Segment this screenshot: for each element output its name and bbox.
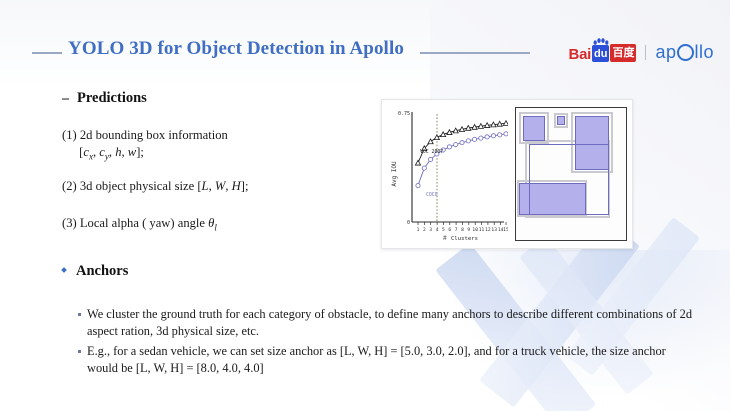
anchor-box-small-square [523,116,545,141]
chart-x-axis-label: ＃ Clusters [442,235,478,242]
svg-text:6: 6 [448,227,451,233]
anchor-box-tiny-square [557,116,565,125]
predictions-heading-label: Predictions [77,90,147,107]
prediction-item-1: (1) 2d bounding box information [cx, cy,… [62,127,228,163]
logo-divider [645,45,646,60]
svg-text:10: 10 [472,227,478,233]
chart-y-axis-label: Avg IOU [391,161,398,187]
dash-bullet-icon: – [62,91,69,107]
apollo-text-before: ap [655,43,676,61]
svg-text:4: 4 [436,227,439,233]
svg-text:1: 1 [417,227,420,233]
avg-iou-vs-clusters-chart: 0.75 0 Avg IOU 1 2 3 4 5 6 7 8 9 10 11 [386,104,508,246]
prediction-2-text-b: ]; [241,179,249,193]
title-rule-left [32,52,62,54]
svg-text:12: 12 [485,227,491,233]
page-title: YOLO 3D for Object Detection in Apollo [68,38,404,60]
apollo-logo: ap llo [655,43,714,61]
paw-print-icon [593,38,609,46]
svg-text:9: 9 [467,227,470,233]
chart-label-coco: COCO [426,192,438,198]
square-bullet-icon [78,313,81,316]
apollo-ring-icon [677,44,694,61]
anchors-bullet-2: E.g., for a sedan vehicle, we can set si… [78,343,699,377]
svg-text:15: 15 [503,227,508,233]
baidu-du-text: du [594,48,607,60]
section-heading-anchors: Anchors [62,263,128,280]
svg-text:7: 7 [455,227,458,233]
section-heading-predictions: – Predictions [62,90,147,107]
prediction-item-2: (2) 3d object physical size [L, W, H]; [62,178,248,195]
prediction-2-text-a: 3d object physical size [ [80,179,202,193]
svg-text:2: 2 [423,227,426,233]
svg-text:13: 13 [491,227,497,233]
svg-text:8: 8 [461,227,464,233]
prediction-3-theta-sub: l [214,223,217,233]
diamond-bullet-icon [61,267,67,273]
title-rule-right [420,52,530,54]
chart-label-voc2007: VOC 2007 [420,149,443,155]
baidu-latin-text: Bai [569,47,591,62]
slide-root: YOLO 3D for Object Detection in Apollo B… [0,0,730,411]
chart-ytick-top: 0.75 [398,111,410,117]
anchor-box-large-square [529,144,609,215]
logo-group: Bai du 百度 ap llo [569,40,714,64]
svg-text:11: 11 [479,227,485,233]
prediction-1-var-w: w [128,145,136,159]
prediction-item-3: (3) Local alpha ( yaw) angle θl [62,215,217,234]
prediction-1-index: (1) [62,128,77,142]
chart-ytick-bottom: 0 [407,220,410,226]
prediction-2-index: (2) [62,179,77,193]
baidu-du-badge: du [592,45,609,62]
baidu-chinese-text: 百度 [610,44,636,62]
anchors-bullet-1-text: We cluster the ground truth for each cat… [87,306,699,340]
square-bullet-icon [78,350,81,353]
apollo-text-after: llo [694,43,714,61]
svg-text:3: 3 [429,227,432,233]
baidu-logo: Bai du 百度 [569,42,637,62]
svg-text:5: 5 [442,227,445,233]
anchors-bullet-1: We cluster the ground truth for each cat… [78,306,699,340]
anchors-bullet-2-text: E.g., for a sedan vehicle, we can set si… [87,343,699,377]
anchor-boxes-panel [515,107,627,241]
prediction-1-line1: 2d bounding box information [80,128,228,142]
prediction-1-bracket-close: ]; [136,145,144,159]
prediction-3-index: (3) [62,216,77,230]
chart-x-tick-labels: 1 2 3 4 5 6 7 8 9 10 11 12 13 14 15 [417,222,508,233]
prediction-2-var-l: L [202,179,209,193]
figure-card: 0.75 0 Avg IOU 1 2 3 4 5 6 7 8 9 10 11 [381,99,633,249]
prediction-3-text-a: Local alpha ( yaw) angle [80,216,208,230]
prediction-2-var-h: H [232,179,241,193]
anchors-heading-label: Anchors [76,263,128,280]
prediction-2-var-w: W [215,179,226,193]
